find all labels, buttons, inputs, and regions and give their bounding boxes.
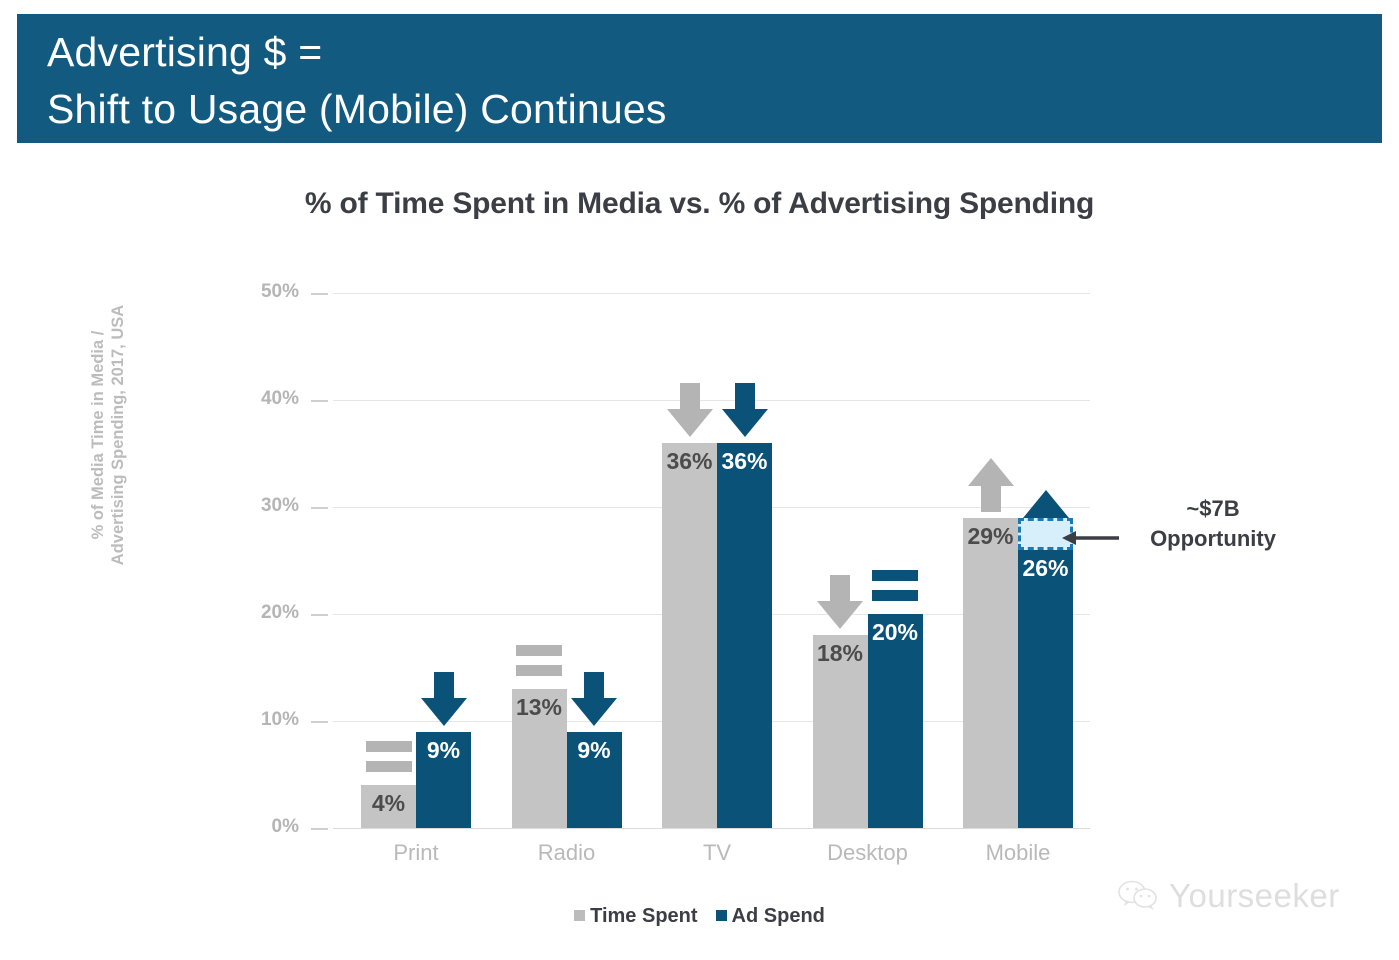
bar-print-time-spent[interactable]: 4% [361, 785, 416, 828]
x-axis-label-radio: Radio [487, 840, 647, 866]
y-axis-title: % of Media Time in Media / Advertising S… [88, 270, 128, 600]
trend-equal-icon [366, 741, 412, 775]
y-tick-label: 10% [243, 709, 299, 731]
bar-mobile-time-spent[interactable]: 29% [963, 518, 1018, 828]
legend-label: Ad Spend [732, 905, 825, 927]
bar-value-label: 4% [361, 790, 416, 817]
bar-value-label: 18% [813, 640, 868, 667]
bar-tv-time-spent[interactable]: 36% [662, 443, 717, 828]
y-axis-title-line1: % of Media Time in Media / [88, 270, 108, 600]
x-axis-label-tv: TV [637, 840, 797, 866]
y-tick-label: 20% [243, 602, 299, 624]
y-tick-label: 40% [243, 388, 299, 410]
legend-item[interactable]: Time Spent [574, 905, 697, 928]
gridline [333, 828, 1090, 829]
trend-equal-icon [872, 570, 918, 604]
bar-value-label: 36% [717, 448, 772, 475]
y-tick-label: 0% [243, 816, 299, 838]
opportunity-annotation-line1: ~$7B [1118, 494, 1308, 524]
trend-up-arrow-icon [968, 458, 1014, 512]
y-tick-mark [311, 507, 328, 509]
legend-swatch [716, 910, 727, 921]
bar-value-label: 29% [963, 523, 1018, 550]
watermark: Yourseeker [1118, 877, 1340, 915]
y-axis-title-line2: Advertising Spending, 2017, USA [108, 270, 128, 600]
gridline [333, 293, 1090, 294]
bar-value-label: 20% [868, 619, 923, 646]
y-tick-mark [311, 828, 328, 830]
x-axis-label-mobile: Mobile [938, 840, 1098, 866]
y-tick-mark [311, 293, 328, 295]
bar-radio-ad-spend[interactable]: 9% [567, 732, 622, 828]
bar-value-label: 26% [1018, 555, 1073, 582]
y-tick-mark [311, 721, 328, 723]
trend-down-arrow-icon [667, 383, 713, 437]
bar-value-label: 36% [662, 448, 717, 475]
y-tick-mark [311, 400, 328, 402]
wechat-icon [1118, 879, 1160, 913]
bar-value-label: 9% [416, 737, 471, 764]
y-tick-label: 50% [243, 281, 299, 303]
x-axis-label-desktop: Desktop [788, 840, 948, 866]
opportunity-pointer-arrow [1062, 530, 1120, 546]
trend-down-arrow-icon [722, 383, 768, 437]
trend-down-arrow-icon [421, 672, 467, 726]
bar-print-ad-spend[interactable]: 9% [416, 732, 471, 828]
trend-equal-icon [516, 645, 562, 679]
bar-desktop-time-spent[interactable]: 18% [813, 635, 868, 828]
chart-plot-area: % of Media Time in Media / Advertising S… [0, 0, 1399, 960]
bar-value-label: 9% [567, 737, 622, 764]
opportunity-annotation: ~$7B Opportunity [1118, 494, 1308, 554]
opportunity-annotation-line2: Opportunity [1118, 524, 1308, 554]
y-tick-label: 30% [243, 495, 299, 517]
x-axis-label-print: Print [336, 840, 496, 866]
legend-item[interactable]: Ad Spend [716, 905, 825, 928]
bar-radio-time-spent[interactable]: 13% [512, 689, 567, 828]
trend-down-arrow-icon [571, 672, 617, 726]
legend-swatch [574, 910, 585, 921]
bar-desktop-ad-spend[interactable]: 20% [868, 614, 923, 828]
watermark-label: Yourseeker [1169, 877, 1340, 915]
trend-down-arrow-icon [817, 575, 863, 629]
bar-value-label: 13% [512, 694, 567, 721]
legend-label: Time Spent [590, 905, 697, 927]
bar-mobile-ad-spend[interactable]: 26% [1018, 550, 1073, 828]
y-tick-mark [311, 614, 328, 616]
bar-tv-ad-spend[interactable]: 36% [717, 443, 772, 828]
